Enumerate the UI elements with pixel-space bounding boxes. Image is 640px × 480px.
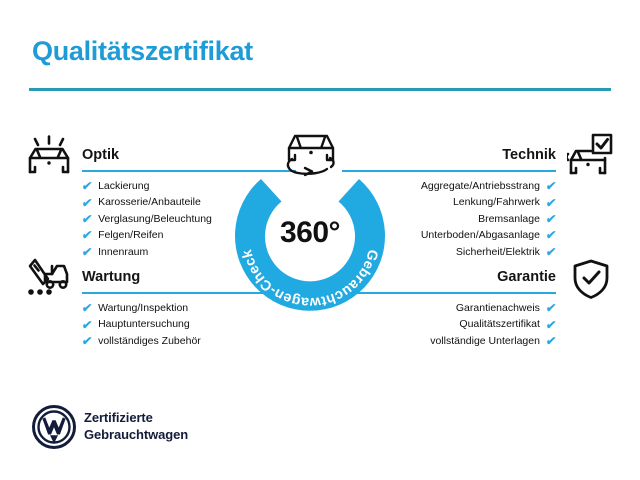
- car-checkbox-icon: [567, 133, 613, 182]
- check-icon: ✔: [545, 213, 557, 225]
- list-item-label: Felgen/Reifen: [98, 227, 163, 243]
- list-item-label: Karosserie/Anbauteile: [98, 194, 201, 210]
- check-icon: ✔: [81, 213, 93, 225]
- list-item-label: Lenkung/Fahrwerk: [453, 194, 540, 210]
- list-item-label: Sicherheit/Elektrik: [456, 244, 540, 260]
- vw-text-line2: Gebrauchtwagen: [84, 426, 188, 443]
- shield-check-icon: [570, 258, 612, 305]
- list-item-label: Unterboden/Abgasanlage: [421, 227, 540, 243]
- list-item-label: Verglasung/Beleuchtung: [98, 211, 212, 227]
- list-item-label: Garantienachweis: [456, 300, 540, 316]
- list-item-label: Aggregate/Antriebsstrang: [421, 178, 540, 194]
- check-icon: ✔: [545, 180, 557, 192]
- list-item-label: Lackierung: [98, 178, 149, 194]
- badge-360-gebrauchtwagen-check: Gebrauchtwagen-Check 360°: [225, 153, 395, 323]
- check-icon: ✔: [545, 319, 557, 331]
- qualitaetszertifikat-page: Qualitätszertifikat: [0, 0, 640, 480]
- check-icon: ✔: [545, 246, 557, 258]
- check-icon: ✔: [545, 229, 557, 241]
- list-item-label: vollständige Unterlagen: [430, 333, 540, 349]
- vw-certified-text: Zertifizierte Gebrauchtwagen: [84, 409, 188, 443]
- check-icon: ✔: [81, 229, 93, 241]
- check-icon: ✔: [81, 246, 93, 258]
- wrench-car-icon: [26, 256, 72, 303]
- vw-text-line1: Zertifizierte: [84, 409, 188, 426]
- list-item: ✔vollständiges Zubehör: [82, 333, 296, 349]
- list-item-label: Bremsanlage: [478, 211, 540, 227]
- list-item-label: Wartung/Inspektion: [98, 300, 188, 316]
- list-item-label: Hauptuntersuchung: [98, 316, 190, 332]
- car-headlights-icon: [26, 134, 72, 181]
- page-title: Qualitätszertifikat: [32, 36, 253, 67]
- badge-center-label: 360°: [225, 216, 395, 250]
- check-icon: ✔: [545, 302, 557, 314]
- check-icon: ✔: [81, 180, 93, 192]
- title-divider: [29, 88, 611, 91]
- check-icon: ✔: [81, 335, 93, 347]
- list-item: ✔vollständige Unterlagen: [342, 333, 556, 349]
- list-item-label: Qualitätszertifikat: [459, 316, 540, 332]
- list-item-label: Innenraum: [98, 244, 148, 260]
- car-rotate-icon: [275, 126, 347, 191]
- check-icon: ✔: [545, 197, 557, 209]
- check-icon: ✔: [545, 335, 557, 347]
- check-icon: ✔: [81, 319, 93, 331]
- check-icon: ✔: [81, 302, 93, 314]
- check-icon: ✔: [81, 197, 93, 209]
- vw-logo: [32, 405, 76, 454]
- list-item-label: vollständiges Zubehör: [98, 333, 201, 349]
